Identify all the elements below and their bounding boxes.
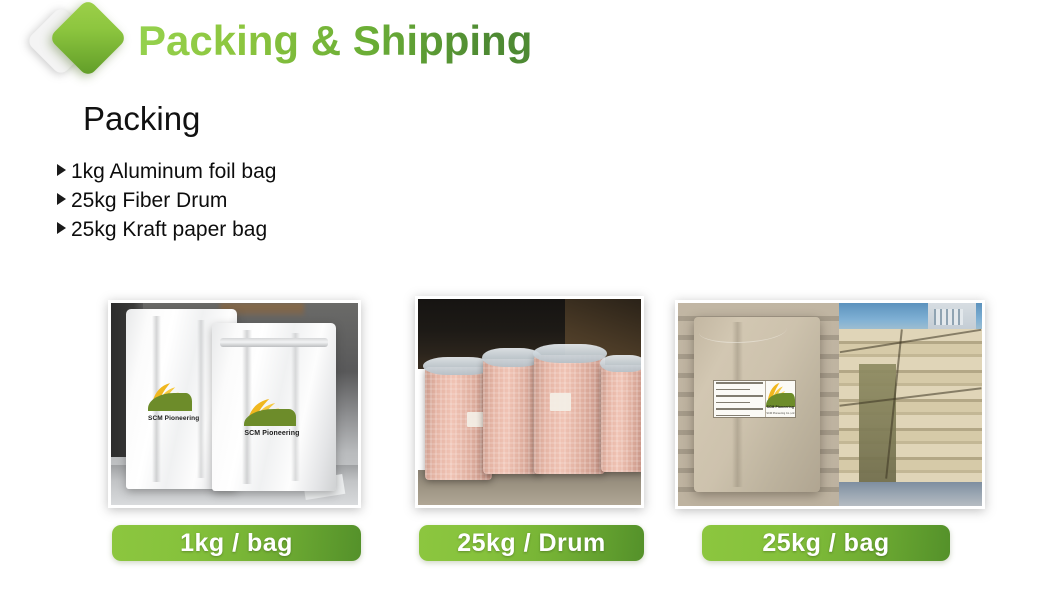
label-line bbox=[716, 389, 750, 391]
page-title: Packing & Shipping bbox=[138, 14, 532, 68]
list-item-label: 25kg Kraft paper bag bbox=[71, 215, 267, 244]
fiber-drums-photo-frame bbox=[415, 296, 644, 508]
aluminum-foil-bags-photo: SCM Pioneering SCM Pioneering bbox=[111, 303, 358, 505]
label-line bbox=[716, 395, 763, 397]
fiber-drum bbox=[483, 359, 541, 474]
fiber-drums-photo bbox=[418, 299, 641, 505]
drum-label bbox=[550, 393, 571, 411]
fiber-drum bbox=[534, 355, 605, 474]
scm-logo-sublabel: SCM Pioneering Co.,Ltd bbox=[766, 412, 795, 415]
section-heading-packing: Packing bbox=[83, 98, 200, 140]
list-item-label: 25kg Fiber Drum bbox=[71, 186, 227, 215]
bag-zipper bbox=[220, 338, 329, 346]
label-text-lines bbox=[714, 381, 765, 417]
kraft-bag-closeup: SCM Pioneering SCM Pioneering Co.,Ltd bbox=[678, 303, 839, 506]
label-line bbox=[716, 408, 763, 410]
fiber-drum bbox=[425, 367, 492, 480]
caption-label: 25kg / Drum bbox=[457, 529, 606, 558]
packing-bullet-list: 1kg Aluminum foil bag 25kg Fiber Drum 25… bbox=[57, 157, 276, 244]
list-item: 25kg Fiber Drum bbox=[57, 186, 276, 215]
fiber-drum bbox=[601, 365, 641, 472]
caption-bar-25kg-bag: 25kg / bag bbox=[702, 525, 950, 561]
bag-stitching bbox=[699, 317, 787, 342]
drum-top-wrap bbox=[533, 344, 607, 363]
arrow-bullet-icon bbox=[57, 164, 66, 176]
list-item: 1kg Aluminum foil bag bbox=[57, 157, 276, 186]
caption-bar-1kg-bag: 1kg / bag bbox=[112, 525, 361, 561]
aluminum-foil-bags-photo-frame: SCM Pioneering SCM Pioneering bbox=[108, 300, 361, 508]
scm-logo-label: SCM Pioneering bbox=[244, 430, 296, 437]
label-line bbox=[716, 415, 750, 417]
kraft-paper-bag: SCM Pioneering SCM Pioneering Co.,Ltd bbox=[694, 317, 820, 492]
kraft-paper-bags-photo: SCM Pioneering SCM Pioneering Co.,Ltd bbox=[678, 303, 982, 506]
building-background bbox=[928, 303, 977, 331]
caption-label: 1kg / bag bbox=[180, 529, 293, 558]
scm-pioneering-logo: SCM Pioneering bbox=[244, 397, 296, 437]
list-item: 25kg Kraft paper bag bbox=[57, 215, 276, 244]
photo-floor bbox=[839, 482, 982, 506]
list-item-label: 1kg Aluminum foil bag bbox=[71, 157, 276, 186]
kraft-paper-bags-photo-frame: SCM Pioneering SCM Pioneering Co.,Ltd bbox=[675, 300, 985, 509]
drum-top-wrap bbox=[600, 355, 641, 372]
diamond-logo bbox=[30, 2, 126, 84]
arrow-bullet-icon bbox=[57, 193, 66, 205]
product-label: SCM Pioneering SCM Pioneering Co.,Ltd bbox=[713, 380, 796, 418]
scm-pioneering-logo: SCM Pioneering SCM Pioneering Co.,Ltd bbox=[765, 381, 795, 417]
stacked-bags-pallets bbox=[839, 303, 982, 506]
caption-label: 25kg / bag bbox=[762, 529, 889, 558]
arrow-bullet-icon bbox=[57, 222, 66, 234]
foil-bag-right: SCM Pioneering bbox=[212, 323, 336, 491]
scm-logo-label: SCM Pioneering bbox=[766, 405, 795, 409]
scm-logo-label: SCM Pioneering bbox=[148, 415, 192, 422]
page-header: Packing & Shipping bbox=[0, 0, 1060, 90]
scm-pioneering-logo: SCM Pioneering bbox=[148, 381, 192, 422]
label-line bbox=[716, 382, 763, 384]
caption-bar-25kg-drum: 25kg / Drum bbox=[419, 525, 644, 561]
label-line bbox=[716, 402, 750, 404]
